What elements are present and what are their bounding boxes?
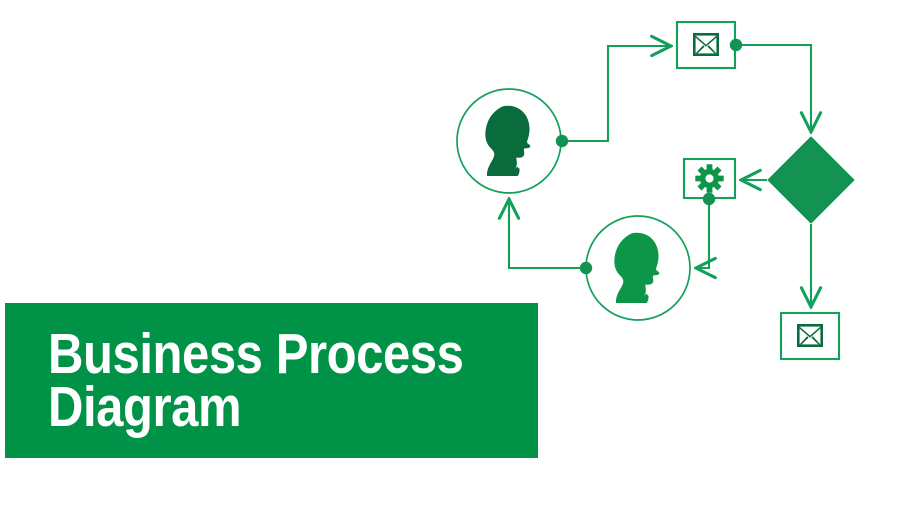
page-title-line-2: Diagram (48, 381, 469, 433)
envelope-icon (693, 33, 719, 56)
connector-dot-bottom[interactable] (703, 193, 715, 205)
edge-envelope-top-to-decision[interactable] (736, 45, 811, 131)
page-title-line-1: Business Process (48, 328, 469, 380)
node-decision[interactable] (768, 137, 854, 223)
node-person-2[interactable] (580, 216, 690, 320)
diagram-canvas: Business Process Diagram (0, 0, 907, 515)
node-person-1[interactable] (457, 89, 568, 193)
edge-person1-to-envelope-top[interactable] (562, 46, 670, 141)
edge-person2-to-person1[interactable] (509, 200, 586, 268)
node-envelope-top[interactable] (677, 22, 742, 68)
title-block: Business Process Diagram (5, 303, 538, 458)
node-gear[interactable] (684, 158, 735, 205)
connector-dot-right[interactable] (730, 39, 742, 51)
node-envelope-bottom[interactable] (781, 313, 839, 359)
envelope-icon (797, 324, 823, 347)
connector-dot-right[interactable] (556, 135, 568, 147)
connector-dot-left[interactable] (580, 262, 592, 274)
edge-gear-to-person2[interactable] (697, 199, 709, 268)
diamond-shape (768, 137, 854, 223)
